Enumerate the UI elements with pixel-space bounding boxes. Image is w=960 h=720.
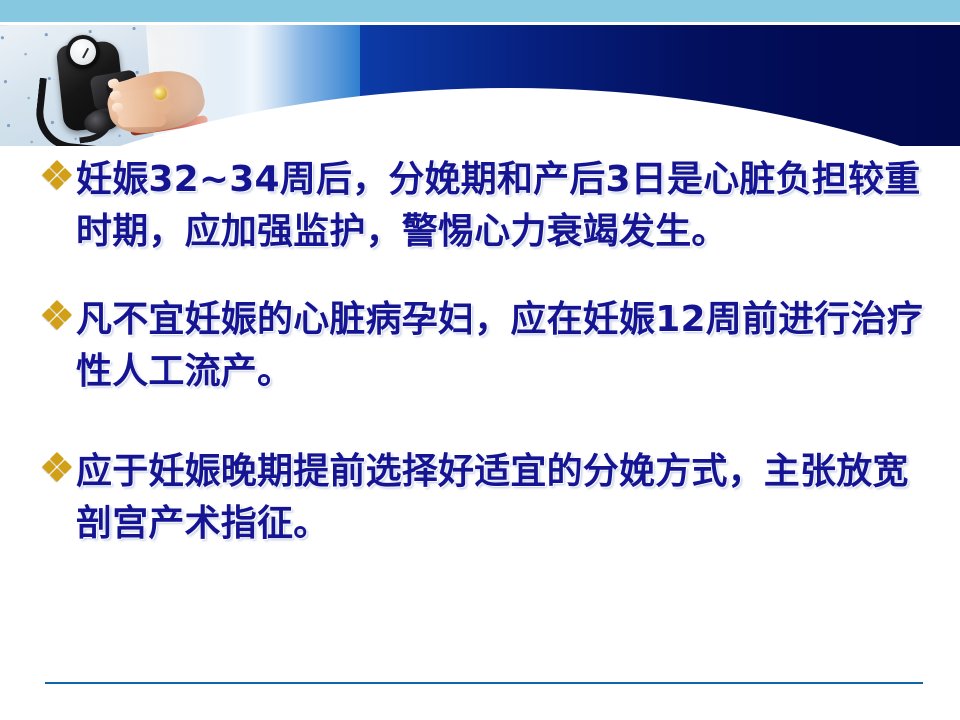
bullet-item-2: 凡不宜妊娠的心脏病孕妇，应在妊娠12周前进行治疗性人工流产。: [44, 294, 930, 398]
header-top-strip: [0, 0, 960, 22]
diamond-cluster-bullet-icon: [44, 454, 72, 482]
diamond-cluster-bullet-icon: [44, 302, 72, 330]
bullet-item-1: 妊娠32~34周后，分娩期和产后3日是心脏负担较重时期，应加强监护，警惕心力衰竭…: [44, 154, 930, 258]
bullet-text-2: 凡不宜妊娠的心脏病孕妇，应在妊娠12周前进行治疗性人工流产。: [76, 294, 930, 398]
footer-divider-rule: [45, 682, 923, 684]
bullet-text-1: 妊娠32~34周后，分娩期和产后3日是心脏负担较重时期，应加强监护，警惕心力衰竭…: [76, 154, 930, 258]
bullet-item-3: 应于妊娠晚期提前选择好适宜的分娩方式，主张放宽剖宫产术指征。: [44, 446, 930, 550]
slide-header-banner: [0, 0, 960, 146]
diamond-cluster-bullet-icon: [44, 162, 72, 190]
bullet-text-3: 应于妊娠晚期提前选择好适宜的分娩方式，主张放宽剖宫产术指征。: [76, 446, 930, 550]
slide: 妊娠32~34周后，分娩期和产后3日是心脏负担较重时期，应加强监护，警惕心力衰竭…: [0, 0, 960, 720]
slide-body: 妊娠32~34周后，分娩期和产后3日是心脏负担较重时期，应加强监护，警惕心力衰竭…: [0, 146, 960, 666]
